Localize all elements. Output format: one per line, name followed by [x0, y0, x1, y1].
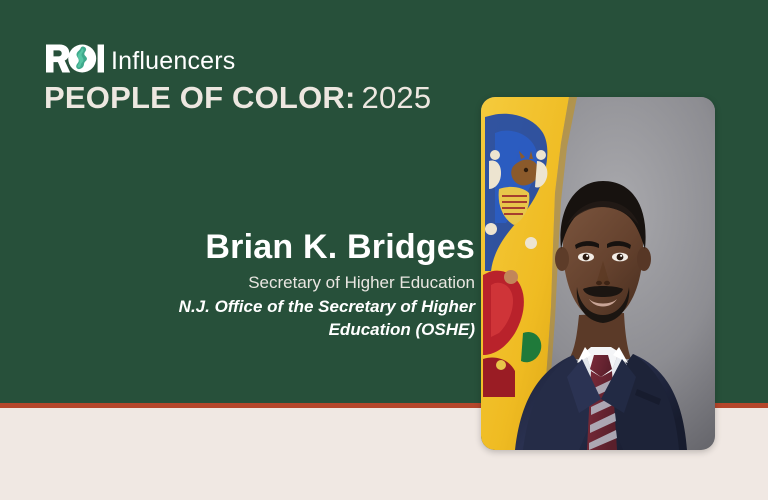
honoree-name: Brian K. Bridges [135, 228, 475, 266]
honoree-title: Secretary of Higher Education [135, 272, 475, 294]
page-title: PEOPLE OF COLOR:2025 [44, 82, 431, 113]
honoree-card: Influencers PEOPLE OF COLOR:2025 Brian K… [0, 0, 768, 500]
honoree-organization: N.J. Office of the Secretary of Higher E… [135, 296, 475, 341]
portrait-image [481, 97, 715, 450]
brand-word: Influencers [111, 49, 236, 74]
headline-label: PEOPLE OF COLOR: [44, 80, 356, 115]
honoree-details: Brian K. Bridges Secretary of Higher Edu… [135, 228, 475, 341]
honoree-portrait[interactable] [481, 97, 715, 450]
headline-year: 2025 [362, 80, 432, 115]
roi-logo-icon [46, 44, 104, 78]
brand-lockup[interactable]: Influencers [46, 44, 236, 78]
